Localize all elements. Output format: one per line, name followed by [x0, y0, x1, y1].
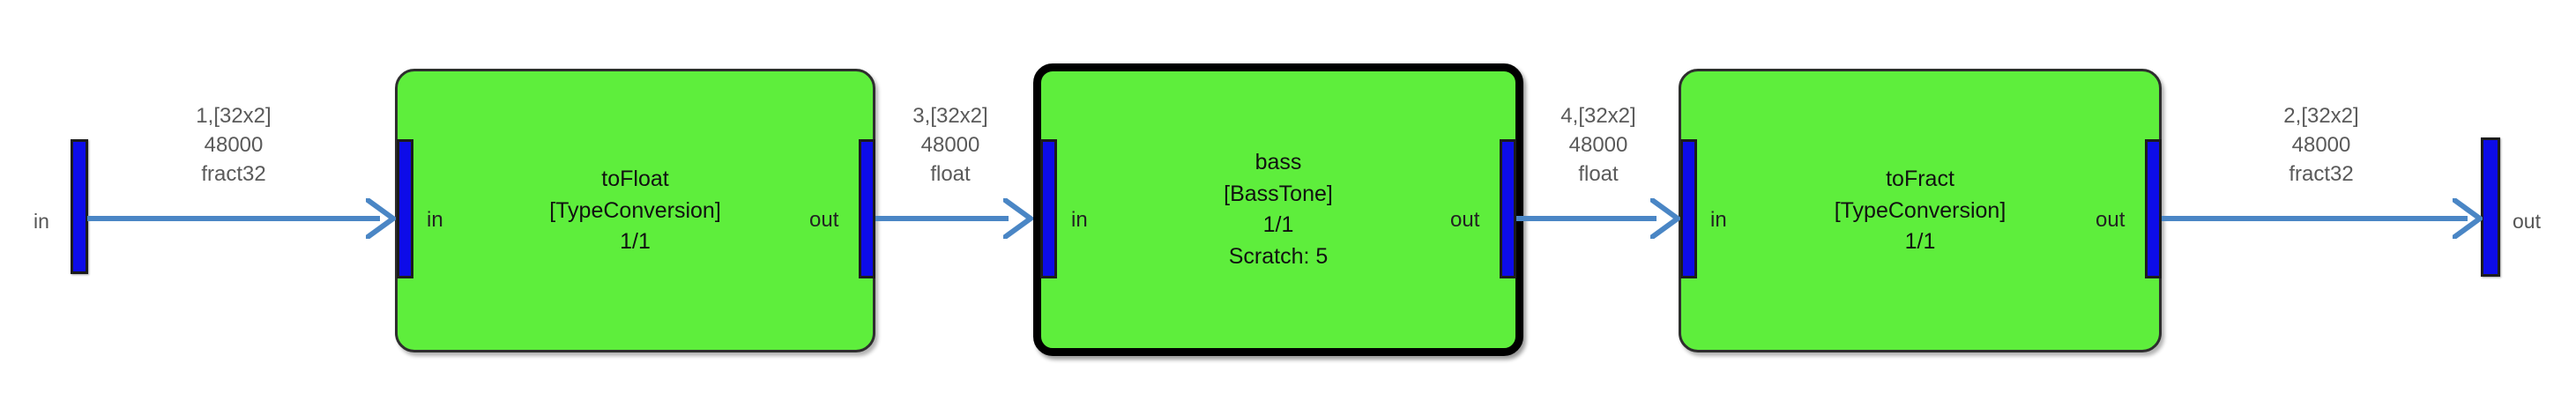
block-tofract-in-label: in: [1710, 210, 1727, 231]
block-bass-in-port[interactable]: [1040, 139, 1057, 278]
edge-3-index-dims: 3,[32x2]: [875, 101, 1025, 130]
edge-1-rate: 48000: [88, 130, 379, 159]
edge-4-label: 4,[32x2] 48000 float: [1523, 101, 1674, 189]
block-tofract-type: [TypeConversion]: [1681, 195, 2159, 226]
block-bass-text: bass [BassTone] 1/1 Scratch: 5: [1041, 147, 1515, 272]
edge-1-label: 1,[32x2] 48000 fract32: [88, 101, 379, 189]
block-tofloat-in-label: in: [427, 210, 443, 231]
edge-1-datatype: fract32: [88, 159, 379, 189]
edge-2-datatype: fract32: [2162, 159, 2481, 189]
edge-4-rate: 48000: [1523, 130, 1674, 159]
block-bass-out-port[interactable]: [1500, 139, 1516, 278]
in-terminal-label: in: [34, 211, 49, 232]
in-terminal[interactable]: [71, 139, 88, 274]
edge-1[interactable]: [87, 216, 380, 221]
block-tofract-out-label: out: [2096, 210, 2125, 231]
edge-2-label: 2,[32x2] 48000 fract32: [2162, 101, 2481, 189]
block-bass-scratch: Scratch: 5: [1041, 241, 1515, 273]
edge-1-index-dims: 1,[32x2]: [88, 101, 379, 130]
block-tofloat[interactable]: toFloat [TypeConversion] 1/1: [395, 69, 875, 352]
edge-3-arrowhead: [1003, 198, 1033, 239]
edge-2-index-dims: 2,[32x2]: [2162, 101, 2481, 130]
edge-3-label: 3,[32x2] 48000 float: [875, 101, 1025, 189]
block-bass-in-label: in: [1071, 210, 1088, 231]
block-tofract-out-port[interactable]: [2145, 139, 2162, 278]
edge-1-arrowhead: [366, 198, 396, 239]
edge-2[interactable]: [2161, 216, 2468, 221]
block-bass-out-label: out: [1450, 210, 1479, 231]
edge-3[interactable]: [875, 216, 1009, 221]
edge-3-datatype: float: [875, 159, 1025, 189]
block-tofloat-out-port[interactable]: [859, 139, 875, 278]
block-tofloat-ratio: 1/1: [398, 226, 873, 258]
edge-2-arrowhead: [2453, 198, 2483, 239]
block-bass-ratio: 1/1: [1041, 210, 1515, 241]
block-tofract[interactable]: toFract [TypeConversion] 1/1: [1679, 69, 2162, 352]
block-bass-name: bass: [1041, 147, 1515, 179]
edge-4-datatype: float: [1523, 159, 1674, 189]
block-tofloat-out-label: out: [809, 210, 838, 231]
block-tofloat-in-port[interactable]: [397, 139, 413, 278]
graph-canvas[interactable]: in 1,[32x2] 48000 fract32 toFloat [TypeC…: [0, 0, 2576, 393]
edge-4-index-dims: 4,[32x2]: [1523, 101, 1674, 130]
block-tofract-in-port[interactable]: [1680, 139, 1697, 278]
block-tofloat-text: toFloat [TypeConversion] 1/1: [398, 164, 873, 258]
edge-4[interactable]: [1515, 216, 1657, 221]
out-terminal-label: out: [2513, 211, 2541, 232]
out-terminal[interactable]: [2481, 137, 2500, 277]
edge-2-rate: 48000: [2162, 130, 2481, 159]
block-tofract-text: toFract [TypeConversion] 1/1: [1681, 164, 2159, 258]
edge-4-arrowhead: [1650, 198, 1680, 239]
block-tofloat-type: [TypeConversion]: [398, 195, 873, 226]
edge-3-rate: 48000: [875, 130, 1025, 159]
block-tofract-ratio: 1/1: [1681, 226, 2159, 258]
block-bass-type: [BassTone]: [1041, 179, 1515, 211]
block-tofloat-name: toFloat: [398, 164, 873, 196]
block-tofract-name: toFract: [1681, 164, 2159, 196]
